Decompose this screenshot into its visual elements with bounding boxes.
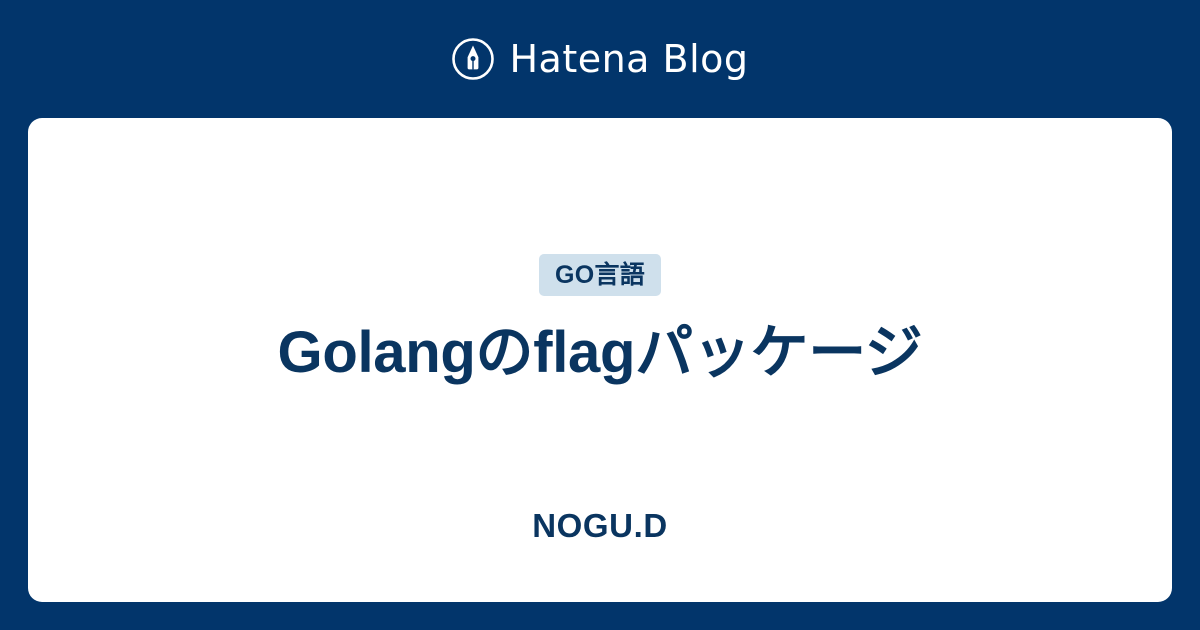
- entry-card: GO言語 Golangのflagパッケージ NOGU.D: [28, 118, 1172, 602]
- category-badge[interactable]: GO言語: [539, 254, 661, 296]
- og-image-root: Hatena Blog GO言語 Golangのflagパッケージ NOGU.D: [0, 0, 1200, 630]
- brand-name: Hatena Blog: [509, 40, 748, 78]
- entry-card-inner: GO言語 Golangのflagパッケージ NOGU.D: [28, 118, 1172, 545]
- hatena-pen-nib-icon: [451, 37, 495, 81]
- entry-title: Golangのflagパッケージ: [278, 318, 923, 389]
- blog-name[interactable]: NOGU.D: [532, 506, 668, 546]
- brand-header: Hatena Blog: [0, 0, 1200, 118]
- category-badge-row: GO言語: [88, 254, 1112, 296]
